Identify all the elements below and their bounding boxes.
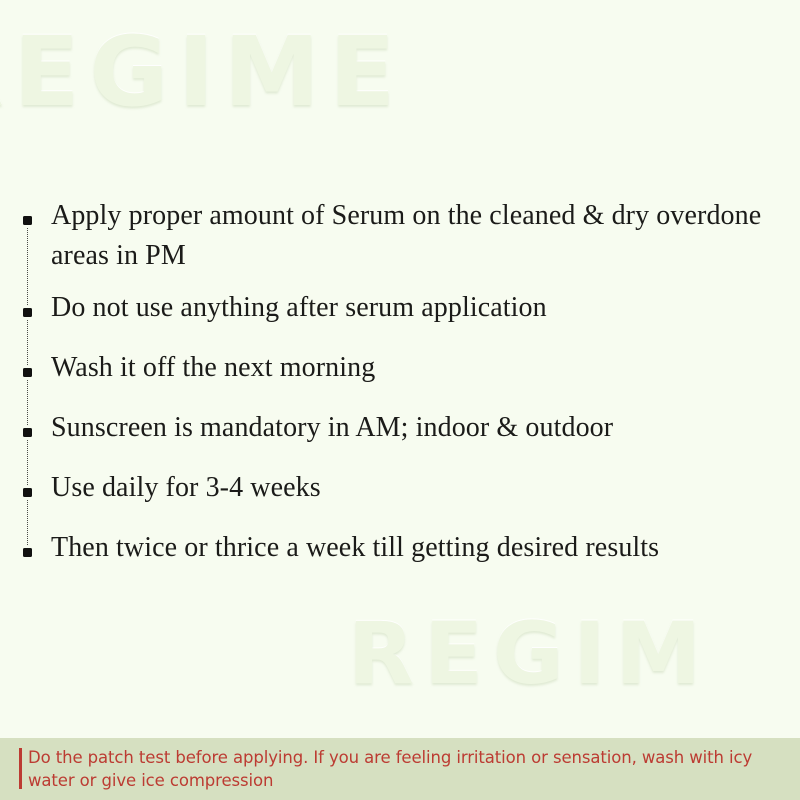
- bullet-square-icon: [23, 488, 32, 497]
- list-item: Then twice or thrice a week till getting…: [0, 528, 800, 588]
- step-text: Then twice or thrice a week till getting…: [51, 528, 800, 568]
- step-text: Use daily for 3-4 weeks: [51, 468, 800, 508]
- bullet-square-icon: [23, 548, 32, 557]
- step-text: Apply proper amount of Serum on the clea…: [51, 196, 800, 276]
- list-item: Use daily for 3-4 weeks: [0, 468, 800, 528]
- step-text: Sunscreen is mandatory in AM; indoor & o…: [51, 408, 800, 448]
- footer-warning-note: Do the patch test before applying. If yo…: [0, 738, 800, 800]
- bullet-square-icon: [23, 368, 32, 377]
- list-item: Apply proper amount of Serum on the clea…: [0, 196, 800, 288]
- watermark-top: REGIME: [0, 16, 405, 128]
- list-item: Wash it off the next morning: [0, 348, 800, 408]
- accent-bar: [19, 748, 22, 789]
- bullet-square-icon: [23, 308, 32, 317]
- bullet-square-icon: [23, 428, 32, 437]
- list-item: Sunscreen is mandatory in AM; indoor & o…: [0, 408, 800, 468]
- watermark-bottom: REGIM: [348, 604, 711, 704]
- regime-instruction-card: REGIME REGIM Apply proper amount of Seru…: [0, 0, 800, 800]
- step-list: Apply proper amount of Serum on the clea…: [0, 196, 800, 588]
- footer-warning-text: Do the patch test before applying. If yo…: [28, 746, 768, 792]
- list-item: Do not use anything after serum applicat…: [0, 288, 800, 348]
- step-text: Do not use anything after serum applicat…: [51, 288, 800, 328]
- step-text: Wash it off the next morning: [51, 348, 800, 388]
- bullet-square-icon: [23, 216, 32, 225]
